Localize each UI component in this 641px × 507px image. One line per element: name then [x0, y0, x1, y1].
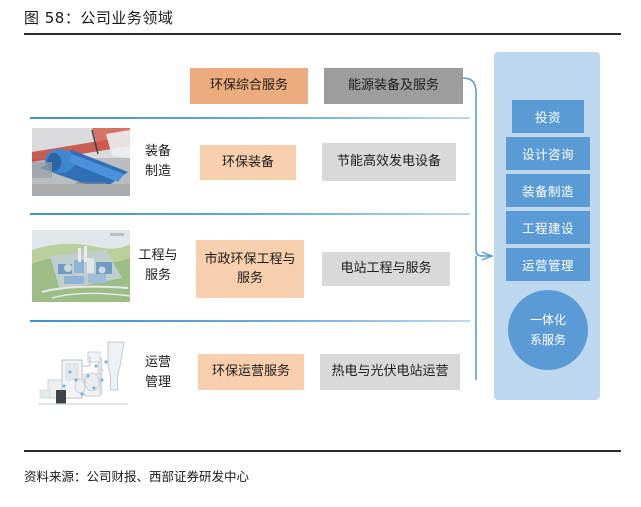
panel-chip-design-consulting[interactable]: 设计咨询 — [506, 137, 590, 170]
chip-label: 装备制造 — [522, 181, 574, 200]
figure-page: 图 58：公司业务领域 环保综合服务 能源装备及服务 — [0, 0, 641, 507]
panel-chip-investment[interactable]: 投资 — [512, 100, 584, 133]
diagram-canvas: 环保综合服务 能源装备及服务 — [0, 40, 641, 445]
circle-label-line-2: 系服务 — [530, 330, 566, 350]
panel-chip-equipment-manufacturing[interactable]: 装备制造 — [506, 174, 590, 207]
circle-label-line-1: 一体化 — [530, 310, 566, 330]
panel-chip-operations-management[interactable]: 运营管理 — [506, 248, 590, 281]
panel-chip-engineering-construction[interactable]: 工程建设 — [506, 211, 590, 244]
page-title: 图 58：公司业务领域 — [24, 7, 173, 28]
chip-label: 投资 — [535, 107, 561, 126]
chip-label: 设计咨询 — [522, 144, 574, 163]
title-rule — [24, 33, 621, 35]
chip-label: 工程建设 — [522, 218, 574, 237]
source-rule — [24, 450, 621, 452]
source-note: 资料来源：公司财报、西部证券研发中心 — [24, 466, 249, 485]
chip-label: 运营管理 — [522, 255, 574, 274]
panel-circle-integrated-services[interactable]: 一体化 系服务 — [508, 290, 588, 370]
